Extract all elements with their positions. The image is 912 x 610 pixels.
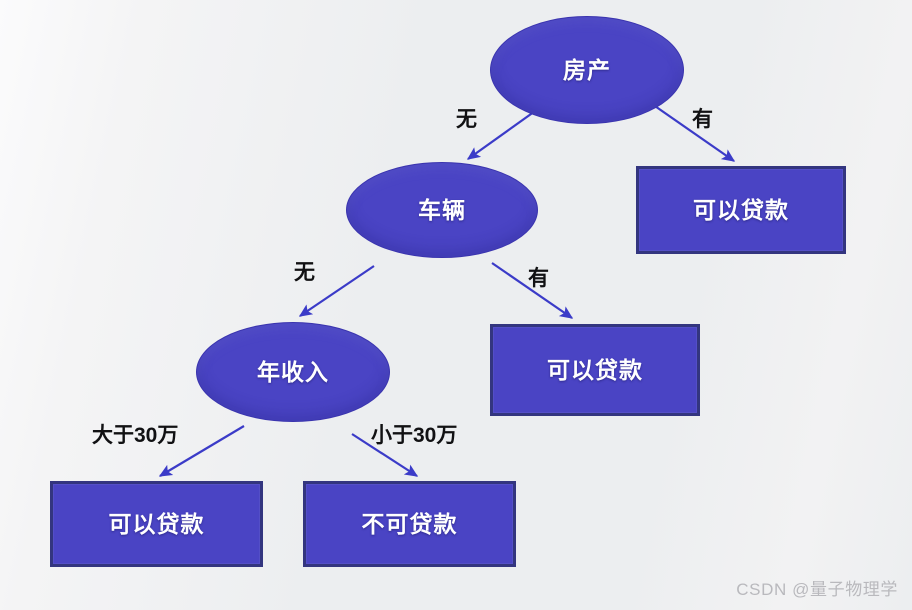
- diagram-canvas: 房产车辆年收入可以贷款可以贷款可以贷款不可贷款 无有无有大于30万小于30万 C…: [0, 0, 912, 610]
- edge-label-vehicle-none: 无: [294, 262, 315, 283]
- node-property[interactable]: 房产: [490, 16, 684, 124]
- node-label: 不可贷款: [362, 513, 458, 536]
- node-label: 可以贷款: [547, 359, 643, 382]
- node-loan-ok-2[interactable]: 可以贷款: [490, 324, 700, 416]
- node-label: 年收入: [257, 361, 329, 384]
- watermark: CSDN @量子物理学: [736, 575, 898, 600]
- node-label: 可以贷款: [109, 513, 205, 536]
- node-label: 车辆: [418, 199, 466, 222]
- node-label: 房产: [563, 59, 611, 82]
- node-loan-no[interactable]: 不可贷款: [303, 481, 516, 567]
- edge-label-property-have: 有: [692, 109, 713, 130]
- edge-label-property-none: 无: [456, 109, 477, 130]
- node-annual-income[interactable]: 年收入: [196, 322, 390, 422]
- node-loan-ok-3[interactable]: 可以贷款: [50, 481, 263, 567]
- edge-label-income-below-300k: 小于30万: [371, 425, 457, 446]
- node-loan-ok-1[interactable]: 可以贷款: [636, 166, 846, 254]
- edge-label-vehicle-have: 有: [528, 268, 549, 289]
- node-vehicle[interactable]: 车辆: [346, 162, 538, 258]
- edge-property-none: [468, 109, 538, 159]
- node-label: 可以贷款: [693, 199, 789, 222]
- edge-label-income-above-300k: 大于30万: [92, 425, 178, 446]
